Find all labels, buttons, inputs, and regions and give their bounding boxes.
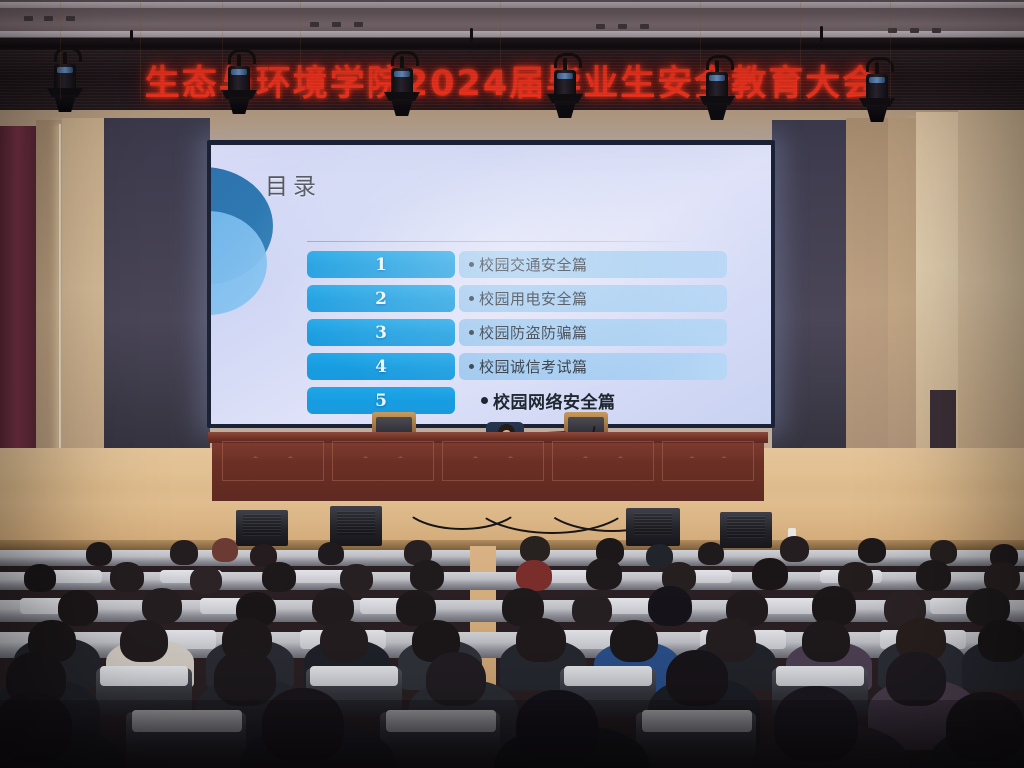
truss-cable <box>130 30 133 42</box>
seat-headrest <box>310 666 398 686</box>
table-decor-panel <box>332 441 434 481</box>
agenda-number-3: 3 <box>307 319 455 346</box>
agenda-label-bar-1: 校园交通安全篇 <box>459 251 727 278</box>
wall-panel-right-2 <box>888 118 918 454</box>
audience-head <box>802 620 850 662</box>
slide-title: 目录 <box>265 167 321 201</box>
bullet-icon <box>469 262 474 267</box>
audience-head <box>212 538 238 562</box>
ceiling-vent <box>66 16 75 21</box>
bullet-icon <box>481 397 488 404</box>
slide-agenda-list: 1 校园交通安全篇 2 校园用电安全篇 3 <box>307 251 727 421</box>
audience-head <box>110 562 144 592</box>
wall-panel-right-4 <box>958 108 1024 456</box>
audience-head <box>262 562 296 592</box>
ceiling-vent <box>618 24 627 29</box>
projection-screen-frame: 目录 1 校园交通安全篇 2 校园用电安全篇 <box>207 140 775 428</box>
audience-head <box>214 650 276 706</box>
auditorium-photo: 生态与环境学院2024届毕业生安全教育大会 <box>0 0 1024 768</box>
ceiling-vent <box>44 16 53 21</box>
agenda-label-5: 校园网络安全篇 <box>493 388 616 413</box>
audience-head <box>170 540 198 565</box>
light-hook-icon <box>228 49 256 64</box>
audience-head <box>318 542 344 565</box>
light-hook-icon <box>706 55 734 70</box>
presentation-slide: 目录 1 校园交通安全篇 2 校园用电安全篇 <box>211 145 771 424</box>
light-lens <box>557 73 573 79</box>
audience-head <box>142 588 182 624</box>
audience-head <box>320 620 368 662</box>
stage-light-5 <box>700 70 734 130</box>
agenda-number-4: 4 <box>307 353 455 380</box>
audience-head <box>946 692 1024 762</box>
audience-head-red-cap <box>516 560 552 591</box>
audience-head <box>978 620 1024 662</box>
audience-head <box>262 688 344 762</box>
seat-headrest <box>132 710 242 732</box>
light-hook-icon <box>554 53 582 68</box>
bullet-icon <box>469 330 474 335</box>
light-snoot <box>54 95 76 112</box>
audience-head <box>916 560 951 591</box>
light-hook-icon <box>54 47 82 62</box>
dark-wall-panel-right <box>772 120 848 450</box>
audience-head <box>586 558 622 590</box>
audience-head <box>698 542 724 565</box>
wall-recess-right <box>930 390 956 456</box>
agenda-row-1: 1 校园交通安全篇 <box>307 251 727 282</box>
ceiling-vent <box>332 22 341 27</box>
agenda-label-3: 校园防盗防骗篇 <box>479 322 588 343</box>
agenda-label-4: 校园诚信考试篇 <box>479 356 588 377</box>
stage-light-3 <box>385 66 419 126</box>
audience-head <box>516 690 598 764</box>
seat-headrest <box>100 666 188 686</box>
agenda-label-bar-2: 校园用电安全篇 <box>459 285 727 312</box>
agenda-label-bar-5: 校园网络安全篇 <box>459 387 727 414</box>
audience-head <box>516 618 566 662</box>
audience-head <box>190 566 222 594</box>
stage-light-2 <box>222 64 256 124</box>
truss-cable <box>470 28 473 42</box>
wall-panel-right-1 <box>846 118 890 454</box>
audience-head <box>340 564 373 593</box>
audience-head <box>86 542 112 566</box>
ceiling-light-strip-2 <box>0 31 1024 37</box>
seat-headrest <box>642 710 752 732</box>
light-hook-icon <box>391 51 419 66</box>
slide-divider <box>307 241 695 242</box>
agenda-row-4: 4 校园诚信考试篇 <box>307 353 727 384</box>
light-snoot <box>866 105 888 122</box>
bullet-icon <box>469 296 474 301</box>
ceiling-vent <box>932 28 941 33</box>
audience-head <box>752 558 788 590</box>
audience-head <box>572 592 612 627</box>
agenda-label-bar-4: 校园诚信考试篇 <box>459 353 727 380</box>
truss-cable <box>820 26 823 42</box>
ceiling-light-strip-1 <box>0 2 1024 8</box>
audience-head <box>0 692 72 762</box>
light-lens <box>869 77 885 83</box>
wall-panel-left-2 <box>62 118 110 460</box>
table-decor-panel <box>662 441 754 481</box>
light-snoot <box>554 101 576 118</box>
audience-head <box>610 620 658 662</box>
audience-head <box>858 538 886 563</box>
stage-light-4 <box>548 68 582 128</box>
audience-head <box>58 590 98 626</box>
audience-head <box>520 536 550 562</box>
light-snoot <box>706 103 728 120</box>
audience-area <box>0 528 1024 768</box>
audience-head-cap <box>648 586 692 626</box>
seat-headrest <box>386 710 496 732</box>
light-snoot <box>391 99 413 116</box>
audience-head <box>410 560 444 591</box>
dark-wall-panel-left <box>104 118 210 454</box>
audience-head <box>886 652 946 706</box>
ceiling-vent <box>310 22 319 27</box>
agenda-row-2: 2 校园用电安全篇 <box>307 285 727 316</box>
ceiling-vent <box>640 24 649 29</box>
seat-headrest <box>776 666 864 686</box>
bullet-icon <box>469 364 474 369</box>
stage-light-1 <box>48 62 82 122</box>
agenda-label-2: 校园用电安全篇 <box>479 288 588 309</box>
audience-head <box>780 536 809 562</box>
agenda-row-5: 5 校园网络安全篇 <box>307 387 727 418</box>
agenda-row-3: 3 校园防盗防骗篇 <box>307 319 727 350</box>
agenda-label-bar-3: 校园防盗防骗篇 <box>459 319 727 346</box>
audience-head <box>120 620 168 662</box>
agenda-number-5: 5 <box>307 387 455 414</box>
ceiling-vent <box>910 28 919 33</box>
agenda-label-1: 校园交通安全篇 <box>479 254 588 275</box>
ceiling-vent <box>24 16 33 21</box>
ceiling-vent <box>596 24 605 29</box>
light-lens <box>231 69 247 75</box>
audience-head <box>774 686 858 762</box>
seat-headrest <box>564 666 652 686</box>
audience-head <box>24 564 56 592</box>
light-snoot <box>228 97 250 114</box>
agenda-number-1: 1 <box>307 251 455 278</box>
agenda-number-2: 2 <box>307 285 455 312</box>
audience-head <box>426 652 486 706</box>
light-lens <box>394 71 410 77</box>
stage-light-6 <box>860 72 894 132</box>
table-decor-panel <box>222 441 324 481</box>
audience-head <box>666 650 728 706</box>
ceiling-vent <box>354 22 363 27</box>
light-lens <box>709 75 725 81</box>
